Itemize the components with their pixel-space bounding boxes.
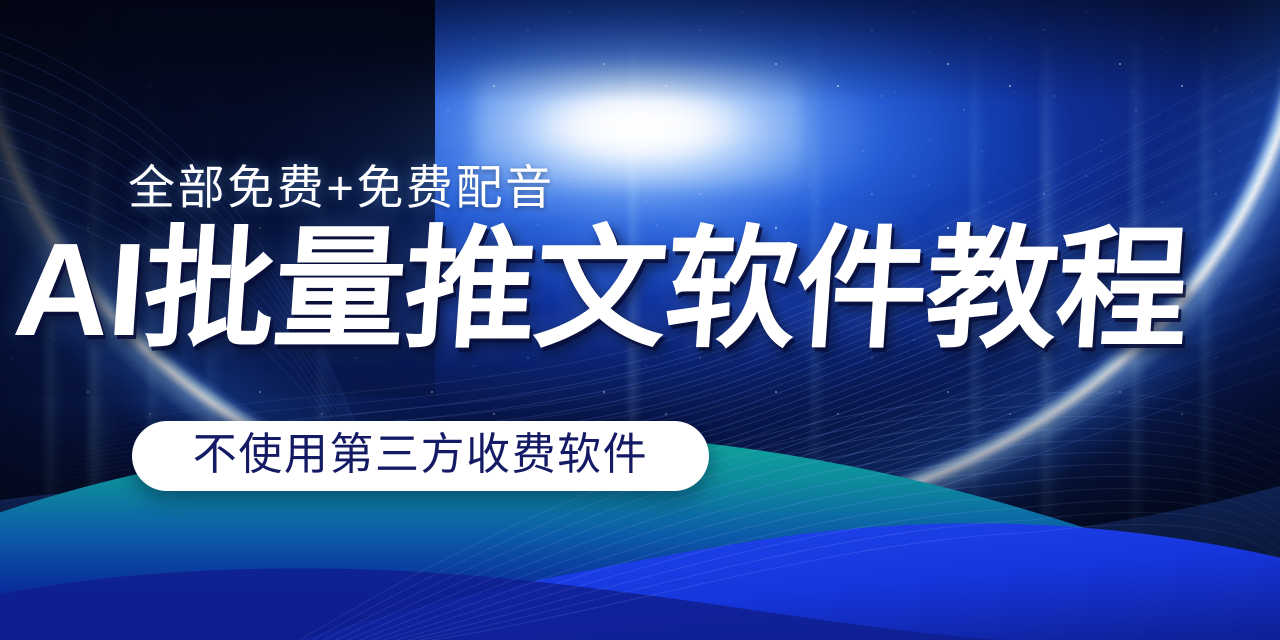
poster-canvas: 全部免费+免费配音 AI批量推文软件教程 不使用第三方收费软件 — [0, 0, 1280, 640]
poster-headline: AI批量推文软件教程 — [10, 216, 1270, 364]
poster-content: 全部免费+免费配音 AI批量推文软件教程 不使用第三方收费软件 — [0, 0, 1280, 640]
badge-label: 不使用第三方收费软件 — [193, 433, 648, 477]
badge-pill: 不使用第三方收费软件 — [132, 421, 709, 491]
poster-subtitle: 全部免费+免费配音 — [128, 163, 555, 213]
